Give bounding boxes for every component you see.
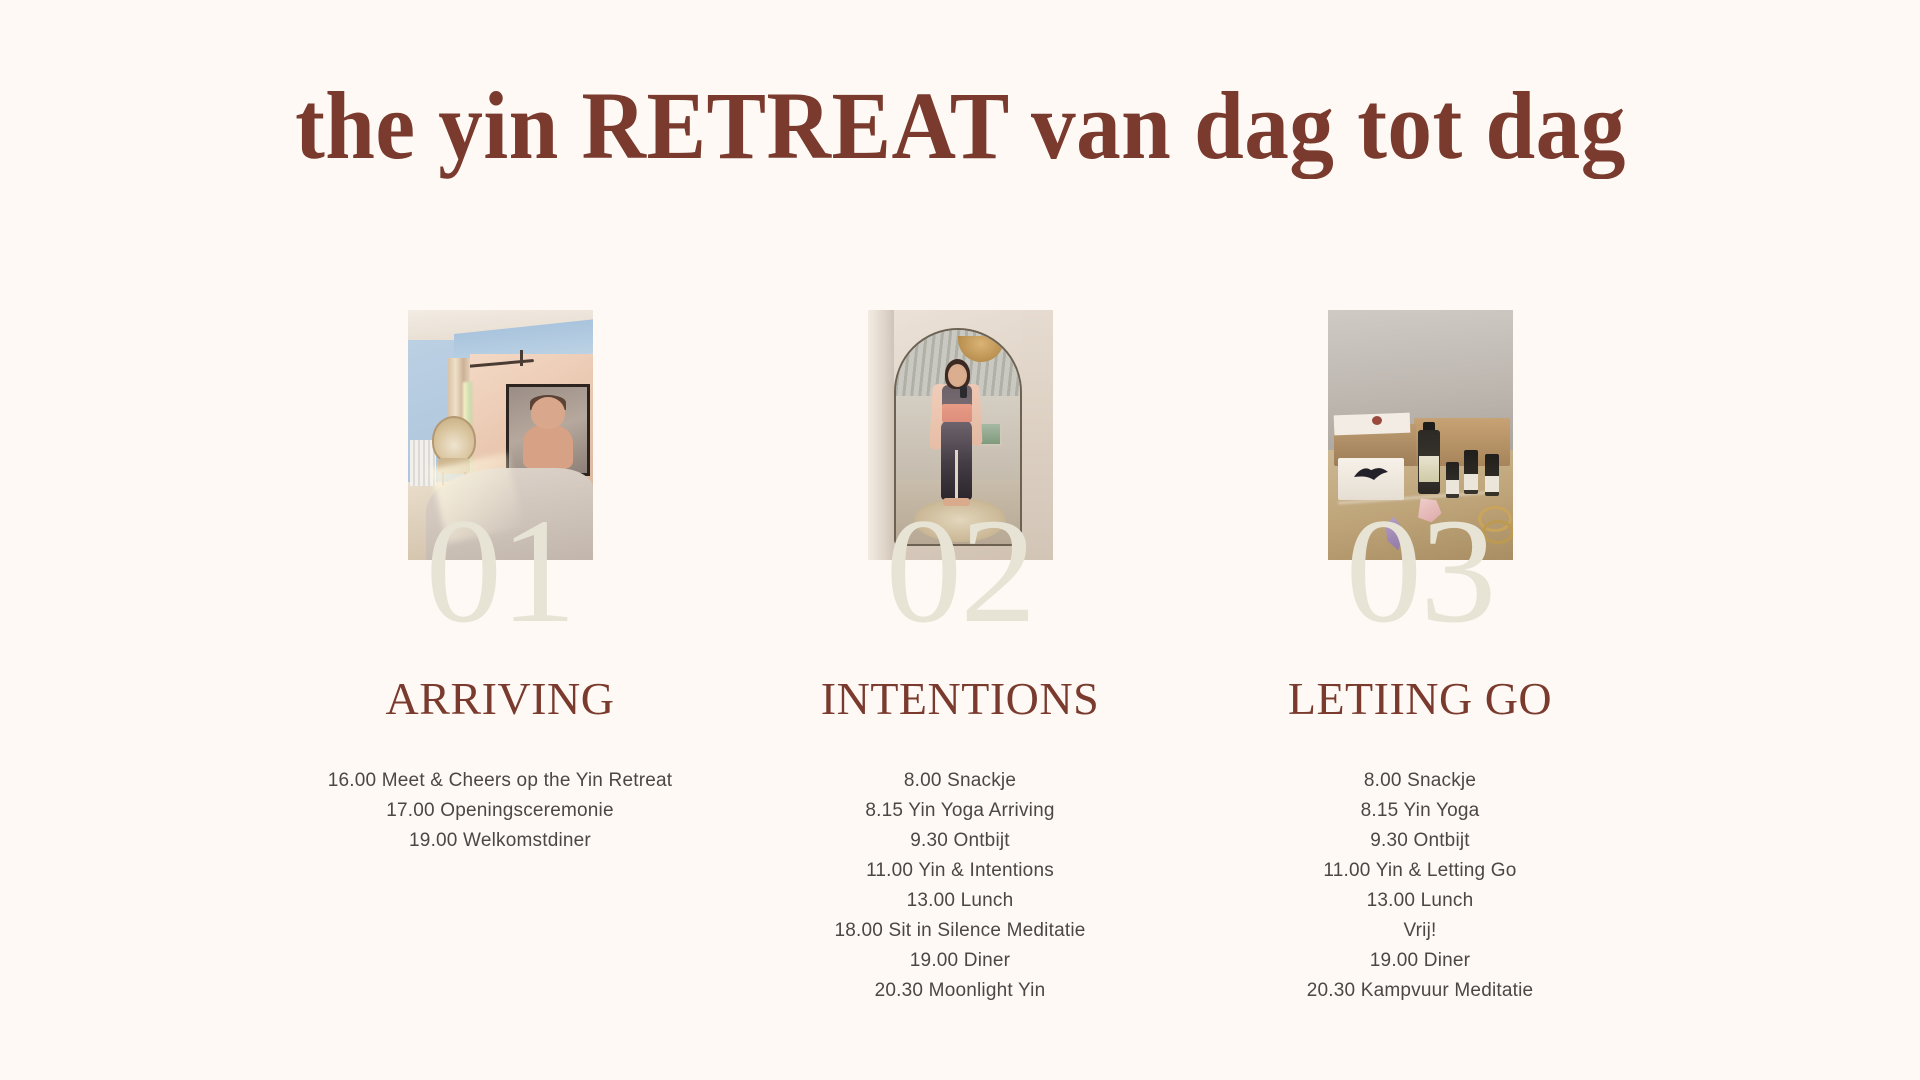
schedule-item: 19.00 Diner xyxy=(1190,946,1650,976)
photo-wrap-01: 01 xyxy=(408,310,593,560)
schedule-item: 17.00 Openingsceremonie xyxy=(270,796,730,826)
schedule-item: 8.00 Snackje xyxy=(730,766,1190,796)
schedule-list-03: 8.00 Snackje 8.15 Yin Yoga 9.30 Ontbijt … xyxy=(1190,766,1650,1006)
schedule-item: 20.30 Kampvuur Meditatie xyxy=(1190,976,1650,1006)
schedule-item: 20.30 Moonlight Yin xyxy=(730,976,1190,1006)
bedroom-photo xyxy=(408,310,593,560)
schedule-item: 13.00 Lunch xyxy=(730,886,1190,916)
mirror-selfie-photo xyxy=(868,310,1053,560)
schedule-item: 16.00 Meet & Cheers op the Yin Retreat xyxy=(270,766,730,796)
day-column-02: 02 INTENTIONS 8.00 Snackje 8.15 Yin Yoga… xyxy=(730,310,1190,1022)
schedule-item: 9.30 Ontbijt xyxy=(730,826,1190,856)
retreat-schedule-page: the yin RETREAT van dag tot dag xyxy=(0,0,1920,1080)
schedule-item: 8.00 Snackje xyxy=(1190,766,1650,796)
photo-wrap-02: 02 xyxy=(868,310,1053,560)
schedule-item: 19.00 Welkomstdiner xyxy=(270,826,730,856)
schedule-item: 11.00 Yin & Letting Go xyxy=(1190,856,1650,886)
bird-icon xyxy=(1352,464,1390,484)
page-title: the yin RETREAT van dag tot dag xyxy=(295,78,1626,174)
schedule-item: 11.00 Yin & Intentions xyxy=(730,856,1190,886)
day-columns: 01 ARRIVING 16.00 Meet & Cheers op the Y… xyxy=(0,310,1920,1022)
day-title-01: ARRIVING xyxy=(386,676,615,722)
schedule-item: 19.00 Diner xyxy=(730,946,1190,976)
schedule-item: 9.30 Ontbijt xyxy=(1190,826,1650,856)
schedule-item: Vrij! xyxy=(1190,916,1650,946)
day-column-03: 03 LETIING GO 8.00 Snackje 8.15 Yin Yoga… xyxy=(1190,310,1650,1022)
schedule-item: 18.00 Sit in Silence Meditatie xyxy=(730,916,1190,946)
day-title-02: INTENTIONS xyxy=(821,676,1099,722)
schedule-item: 13.00 Lunch xyxy=(1190,886,1650,916)
day-column-01: 01 ARRIVING 16.00 Meet & Cheers op the Y… xyxy=(270,310,730,872)
schedule-list-02: 8.00 Snackje 8.15 Yin Yoga Arriving 9.30… xyxy=(730,766,1190,1006)
day-title-03: LETIING GO xyxy=(1288,676,1552,722)
schedule-item: 8.15 Yin Yoga xyxy=(1190,796,1650,826)
schedule-list-01: 16.00 Meet & Cheers op the Yin Retreat 1… xyxy=(270,766,730,856)
photo-wrap-03: 03 xyxy=(1328,310,1513,560)
schedule-item: 8.15 Yin Yoga Arriving xyxy=(730,796,1190,826)
wellness-products-photo xyxy=(1328,310,1513,560)
